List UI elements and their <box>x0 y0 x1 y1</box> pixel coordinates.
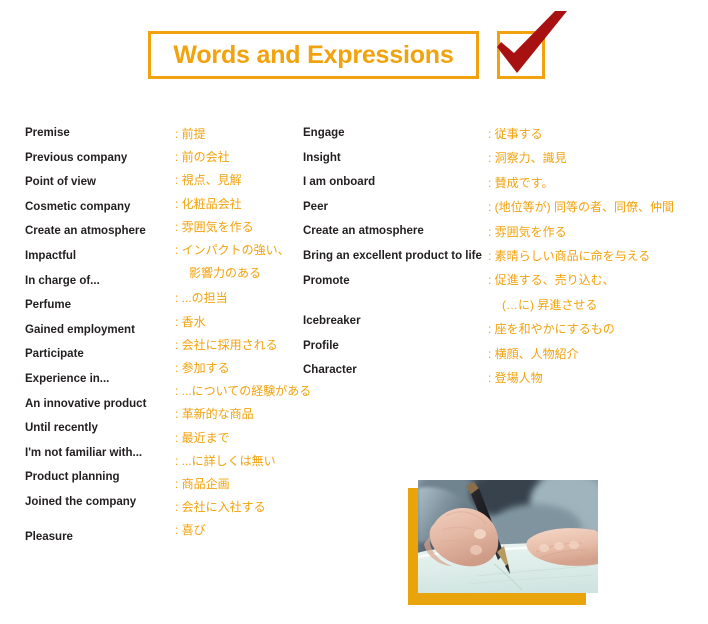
vocab-term: Create an atmosphere <box>303 226 424 238</box>
vocab-term: Bring an excellent product to life <box>303 251 482 263</box>
vocab-gloss: : 参加する <box>175 362 230 374</box>
vocab-term: Until recently <box>25 423 98 435</box>
vocab-gloss: : 洞察力、識見 <box>488 152 567 164</box>
hand-writing-photo <box>418 480 598 593</box>
slide-canvas: Words and Expressions PremisePrevious co… <box>0 0 708 624</box>
vocab-gloss: : 視点、見解 <box>175 174 242 186</box>
vocab-term: Engage <box>303 128 345 140</box>
vocab-term: Impactful <box>25 251 76 263</box>
vocab-term: Previous company <box>25 153 127 165</box>
vocab-term: Insight <box>303 153 341 165</box>
vocab-gloss: : 会社に入社する <box>175 501 266 513</box>
vocab-gloss: : 横顔、人物紹介 <box>488 348 579 360</box>
vocab-term: Product planning <box>25 472 120 484</box>
vocab-term: I'm not familiar with... <box>25 448 142 460</box>
vocab-gloss: : ...の担当 <box>175 292 228 304</box>
vocab-gloss: : 最近まで <box>175 432 230 444</box>
vocab-gloss: (…に) 昇進させる <box>488 299 597 311</box>
vocab-gloss: : インパクトの強い、 <box>175 244 290 256</box>
vocab-term: Icebreaker <box>303 316 361 328</box>
vocab-gloss: : 前の会社 <box>175 151 230 163</box>
vocab-gloss: : ...についての経験がある <box>175 385 311 397</box>
vocab-term: Profile <box>303 341 339 353</box>
vocab-term: Perfume <box>25 300 71 312</box>
vocab-gloss: : 賛成です。 <box>488 177 553 189</box>
vocab-term: Pleasure <box>25 532 73 544</box>
vocab-term: Gained employment <box>25 325 135 337</box>
vocab-term: Character <box>303 365 357 377</box>
vocab-term: Point of view <box>25 177 96 189</box>
vocab-gloss: : 会社に採用される <box>175 339 278 351</box>
vocab-gloss: 影響力のある <box>175 267 261 279</box>
vocab-gloss: : 化粧品会社 <box>175 198 242 210</box>
vocab-gloss: : 座を和やかにするもの <box>488 323 615 335</box>
vocab-term: Create an atmosphere <box>25 226 146 238</box>
vocab-term: In charge of... <box>25 276 100 288</box>
checkbox-outline <box>497 31 545 79</box>
vocab-gloss: : 雰囲気を作る <box>175 221 254 233</box>
vocab-term: An innovative product <box>25 399 146 411</box>
vocab-term: Experience in... <box>25 374 109 386</box>
vocab-term: Premise <box>25 128 70 140</box>
page-title: Words and Expressions <box>173 43 453 68</box>
vocab-term: Cosmetic company <box>25 202 130 214</box>
vocab-gloss: : 素晴らしい商品に命を与える <box>488 250 650 262</box>
vocab-term: Peer <box>303 202 328 214</box>
vocab-gloss: : 革新的な商品 <box>175 408 254 420</box>
vocab-gloss: : 香水 <box>175 316 206 328</box>
vocab-gloss: : 従事する <box>488 128 543 140</box>
title-box: Words and Expressions <box>148 31 479 79</box>
vocab-gloss: : 喜び <box>175 524 206 536</box>
vocab-gloss: : (地位等が) 同等の者、同僚、仲間 <box>488 201 674 213</box>
vocab-gloss: : ...に詳しくは無い <box>175 455 276 467</box>
vocab-term: Participate <box>25 349 84 361</box>
title-group: Words and Expressions <box>148 31 479 79</box>
vocab-term: Promote <box>303 276 350 288</box>
vocab-term: Joined the company <box>25 497 136 509</box>
vocab-gloss: : 前提 <box>175 128 206 140</box>
vocab-gloss: : 促進する、売り込む、 <box>488 274 615 286</box>
vocab-gloss: : 雰囲気を作る <box>488 226 567 238</box>
vocab-term: I am onboard <box>303 177 375 189</box>
vocab-gloss: : 商品企画 <box>175 478 230 490</box>
vocab-gloss: : 登場人物 <box>488 372 543 384</box>
photo-artwork <box>418 480 598 593</box>
